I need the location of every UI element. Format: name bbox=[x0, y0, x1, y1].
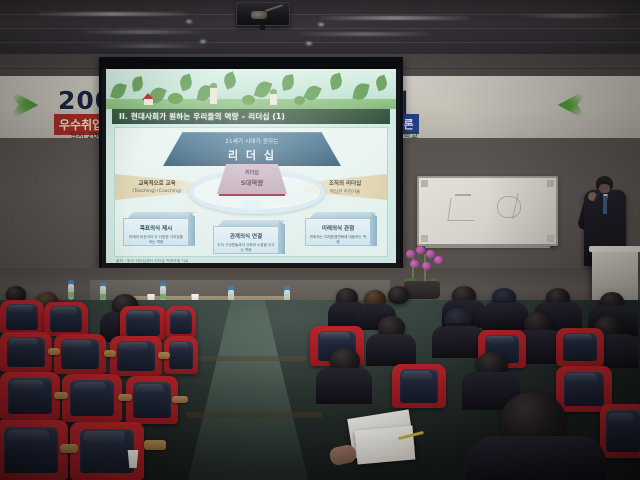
box-heading: 목표의식 제시 bbox=[124, 224, 188, 232]
logo-swoosh-icon bbox=[538, 84, 590, 126]
diagram-box: 관계의식 연결 조직 구성원들과의 신뢰와 소통을 이끄는 역량 bbox=[213, 220, 285, 254]
village-tower-icon bbox=[270, 93, 277, 105]
ceiling-light-fixture bbox=[96, 44, 206, 48]
seat bbox=[54, 334, 106, 374]
ceiling-projector-icon bbox=[236, 2, 290, 26]
whiteboard-scribble bbox=[447, 198, 477, 221]
lectern-top bbox=[589, 246, 640, 252]
ceiling-light-fixture bbox=[38, 12, 188, 16]
whiteboard-pen-tray bbox=[425, 244, 550, 248]
diagram-box: 목표의식 제시 미래의 비전이라 도 다양한 가치창출 하는 역량 bbox=[123, 212, 195, 246]
box-body: 미래의 비전이라 도 다양한 가치창출 하는 역량 bbox=[124, 235, 188, 245]
box-body: 조직 구성원들과의 신뢰와 소통을 이끄는 역량 bbox=[214, 243, 278, 253]
left-panel-heading: 교육적으로 교육 bbox=[115, 179, 199, 187]
seat bbox=[62, 374, 122, 422]
village-tower-icon bbox=[210, 87, 217, 104]
seat bbox=[0, 420, 68, 480]
seat bbox=[120, 306, 166, 340]
slide-diagram: 21세기 시대가 원하는 리 더 십 교육적으로 교육 (Teaching) (… bbox=[114, 127, 388, 257]
handout-papers bbox=[355, 426, 416, 465]
diagram-header-main: 리 더 십 bbox=[163, 147, 341, 163]
box-body: 변화하는 미래환경변화에 대응하는 역량 bbox=[306, 235, 370, 245]
ceiling bbox=[0, 0, 640, 58]
attendee-shoulders-foreground bbox=[466, 436, 606, 480]
projector-mount bbox=[260, 24, 265, 30]
seat bbox=[166, 306, 196, 338]
slide-title: II. 현대사회가 원하는 우리들의 역량 – 리더십 (1) bbox=[112, 109, 390, 124]
core-underline bbox=[219, 194, 285, 196]
core-small-label: 리더십 bbox=[217, 169, 287, 176]
seat bbox=[126, 376, 178, 424]
aisle-step bbox=[196, 356, 306, 361]
ceiling-light-fixture bbox=[82, 30, 202, 34]
diagram-header-banner: 21세기 시대가 원하는 리 더 십 bbox=[163, 132, 341, 166]
attendee-shoulders bbox=[316, 368, 372, 404]
slide-footer-source: 출처 : 한국 리더십센터 리더십 역량모델 자료 bbox=[116, 259, 386, 263]
attendee-head bbox=[388, 286, 409, 304]
diagram-box: 미래의식 관점 변화하는 미래환경변화에 대응하는 역량 bbox=[305, 212, 377, 246]
projected-slide: II. 현대사회가 원하는 우리들의 역량 – 리더십 (1) 21세기 시대가… bbox=[106, 69, 396, 263]
diagram-header-small: 21세기 시대가 원하는 bbox=[163, 137, 341, 145]
seat bbox=[556, 328, 604, 366]
screen-top-bar bbox=[102, 60, 400, 69]
logo-swoosh-icon bbox=[6, 84, 58, 126]
box-heading: 미래의식 관점 bbox=[306, 224, 370, 232]
lecture-hall-photo: 200 우수취업 일시 2009 수회 공전학토론 학교 한경공학교 bbox=[0, 0, 640, 480]
ceiling-light-fixture bbox=[300, 32, 430, 36]
slide-header-graphic bbox=[106, 69, 396, 109]
diagram-left-panel: 교육적으로 교육 (Teaching) (Coaching) bbox=[115, 174, 199, 200]
projection-screen: II. 현대사회가 원하는 우리들의 역량 – 리더십 (1) 21세기 시대가… bbox=[99, 57, 403, 278]
core-main-label: 5대역량 bbox=[217, 177, 287, 187]
seat bbox=[44, 302, 88, 336]
seat bbox=[0, 372, 60, 420]
projector-lens bbox=[251, 11, 267, 19]
whiteboard bbox=[417, 176, 558, 246]
orchid-pot bbox=[404, 281, 440, 299]
diagram-core-block: 리더십 5대역량 bbox=[217, 164, 287, 194]
ceiling-light-fixture bbox=[520, 14, 620, 18]
attendee-shoulders bbox=[366, 334, 416, 366]
aisle-step bbox=[186, 412, 322, 418]
presenter-tie bbox=[603, 196, 607, 214]
seat bbox=[600, 404, 640, 458]
attendee-shoulders bbox=[482, 302, 528, 330]
left-panel-sub: (Teaching) (Coaching) bbox=[115, 189, 199, 194]
ceiling-light-fixture bbox=[320, 16, 470, 20]
seat bbox=[0, 300, 44, 334]
box-heading: 관계의식 연결 bbox=[214, 232, 278, 240]
whiteboard-scribble bbox=[455, 194, 471, 196]
attendee-shoulders bbox=[432, 326, 484, 358]
seat bbox=[110, 336, 162, 376]
projector-arm bbox=[265, 4, 283, 11]
seat bbox=[392, 364, 446, 408]
seat bbox=[0, 332, 52, 372]
village-hut-icon bbox=[142, 93, 155, 104]
